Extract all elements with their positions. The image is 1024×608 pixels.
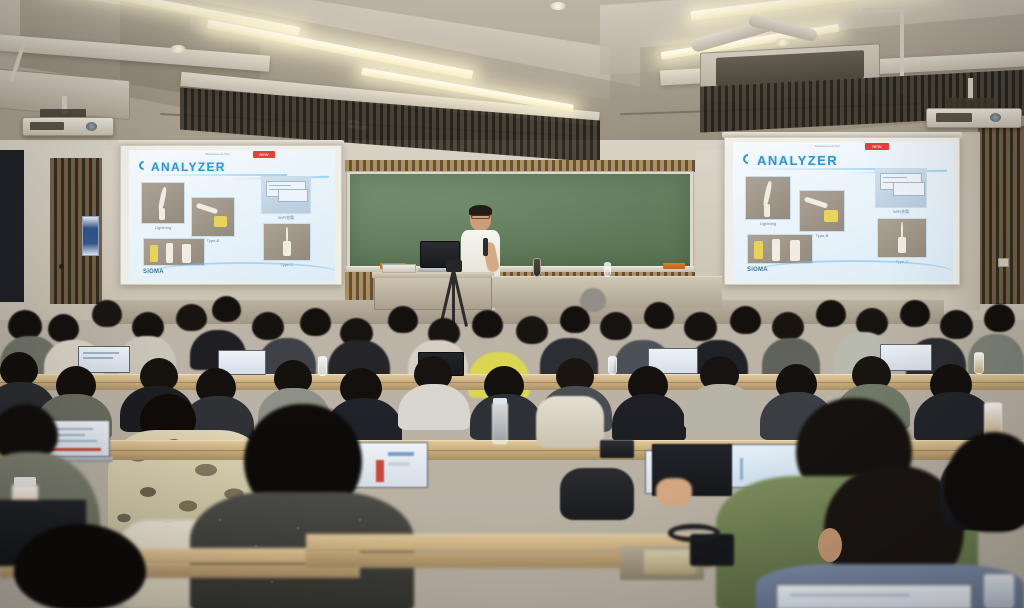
laptop-r1-br[interactable] <box>776 584 972 608</box>
bottle-r2-a-cap <box>493 398 507 404</box>
slide-badge-left: NEW <box>253 151 275 158</box>
group-conn-3-left <box>182 244 191 263</box>
slide-wave-left <box>149 262 335 282</box>
laptop-r1-br-line <box>790 594 910 596</box>
doc-line-1-right <box>883 177 907 178</box>
laptop-r2-d-line <box>740 458 743 480</box>
bottle-r4-c <box>974 352 984 374</box>
slide-cell-typec-right <box>877 218 927 258</box>
slide-title-left: ANALYZER <box>151 160 226 174</box>
bottle-r2-a <box>492 402 508 444</box>
laptop-r2-b-chart2 <box>388 452 414 456</box>
conduit-right-horizontal <box>862 8 904 12</box>
projector-vent-right <box>936 113 972 122</box>
laptop-r4-a-content2 <box>83 357 113 359</box>
connector-typec-left <box>283 241 291 256</box>
podium-papers <box>382 264 416 273</box>
slide-cell-wifi-right <box>875 168 927 208</box>
slide-cell-lightning-left <box>141 182 185 224</box>
phone-r1[interactable] <box>644 550 696 574</box>
door-knob-left[interactable] <box>59 264 64 269</box>
group-conn-3-right <box>790 240 800 261</box>
connector-typeb-right <box>824 210 838 222</box>
slide-tag-right: Measurement Tool <box>815 144 861 148</box>
presenter-microphone <box>483 238 488 256</box>
projector-vent-left <box>30 122 64 130</box>
group-conn-1-right <box>754 241 763 259</box>
lecture-hall-photo: Measurement Tool NEW ANALYZER Lightning … <box>0 0 1024 608</box>
slide-cell-group-right <box>747 234 813 264</box>
projector-lens-right <box>990 113 1001 122</box>
projection-screen-left: Measurement Tool NEW ANALYZER Lightning … <box>120 145 342 285</box>
downlight-1 <box>170 45 186 53</box>
slide-logo-right: SiGMA <box>747 267 768 273</box>
analyzer-logo-glyph-left <box>137 159 150 172</box>
front-bottle <box>533 258 541 277</box>
slide-badge-right: NEW <box>865 143 889 150</box>
slide-title-right: ANALYZER <box>757 153 838 168</box>
slide-caption-wifi-left: WiFi充電 <box>261 215 311 221</box>
downlight-3 <box>550 2 566 10</box>
cable-typeb-left <box>196 203 218 215</box>
downlight-4 <box>775 38 790 46</box>
presenter-glasses <box>471 215 490 219</box>
slide-left: Measurement Tool NEW ANALYZER Lightning … <box>129 150 335 282</box>
slide-cell-lightning-right <box>745 176 791 220</box>
slide-right: Measurement Tool NEW ANALYZER Lightning … <box>733 142 953 282</box>
slide-cell-group-left <box>143 238 205 266</box>
doc-card-wifi-2-right <box>893 182 925 196</box>
eraser-right[interactable] <box>663 263 685 269</box>
slide-cell-typeb-left <box>191 197 235 237</box>
podium-desk <box>374 276 492 310</box>
cable-lightning-tip-right <box>764 204 770 217</box>
ceiling-projector-left <box>18 96 114 152</box>
phone-r2[interactable] <box>600 440 634 458</box>
bag-center-right <box>560 468 634 520</box>
ear-r1-blue <box>818 528 842 562</box>
projector-lens-left <box>86 122 97 131</box>
slide-tag-left: Measurement Tool <box>205 152 249 156</box>
doc-card-wifi-2-left <box>278 189 308 202</box>
connector-typeb-left <box>214 216 227 227</box>
projection-screen-right: Measurement Tool NEW ANALYZER Lightning … <box>724 137 960 285</box>
group-conn-2-right <box>772 239 780 261</box>
slide-cell-wifi-left <box>261 176 311 214</box>
bottle-r4-a <box>318 356 327 376</box>
slide-cell-typeb-right <box>799 190 845 232</box>
bottle-r1-c <box>984 574 1014 608</box>
slide-caption-lightning-left: Lightning <box>141 225 185 230</box>
cable-lightning-tip-left <box>159 208 165 220</box>
door-sign-left <box>82 216 99 256</box>
front-bottle-2 <box>604 262 611 277</box>
bottle-r1-a-cap <box>14 477 36 486</box>
laptop-r4-a-content <box>83 352 119 354</box>
group-conn-2-left <box>166 243 173 263</box>
connector-typec-right <box>898 237 906 253</box>
laptop-r1-br-lid <box>776 584 972 608</box>
slide-wave-right <box>753 260 953 282</box>
laptop-r2-b-chart3 <box>388 462 410 466</box>
slide-caption-wifi-right: WiFi充電 <box>875 209 927 215</box>
wall-plate-right <box>998 258 1009 267</box>
cable-coil-r1 <box>668 524 720 542</box>
bottle-r4-b <box>608 356 617 375</box>
doc-line-1-left <box>269 185 291 186</box>
front-bench <box>492 276 722 308</box>
cable-typeb-right <box>804 196 828 208</box>
slide-logo-left: SiGMA <box>143 269 164 275</box>
slide-caption-lightning-right: Lightning <box>745 221 791 226</box>
tote-bag-r2 <box>536 396 604 448</box>
alcove-left-dark <box>0 150 24 302</box>
projector-pole-right <box>968 78 973 100</box>
laptop-r2-b-chart1 <box>376 460 384 482</box>
projector-cables-right <box>946 98 994 108</box>
green-chalkboard[interactable] <box>350 174 690 266</box>
slide-cell-typec-left <box>263 223 311 261</box>
head-gray <box>580 288 606 312</box>
group-conn-1-left <box>150 245 158 262</box>
analyzer-logo-glyph-right <box>741 152 755 166</box>
hand-r1-holding <box>656 478 692 506</box>
